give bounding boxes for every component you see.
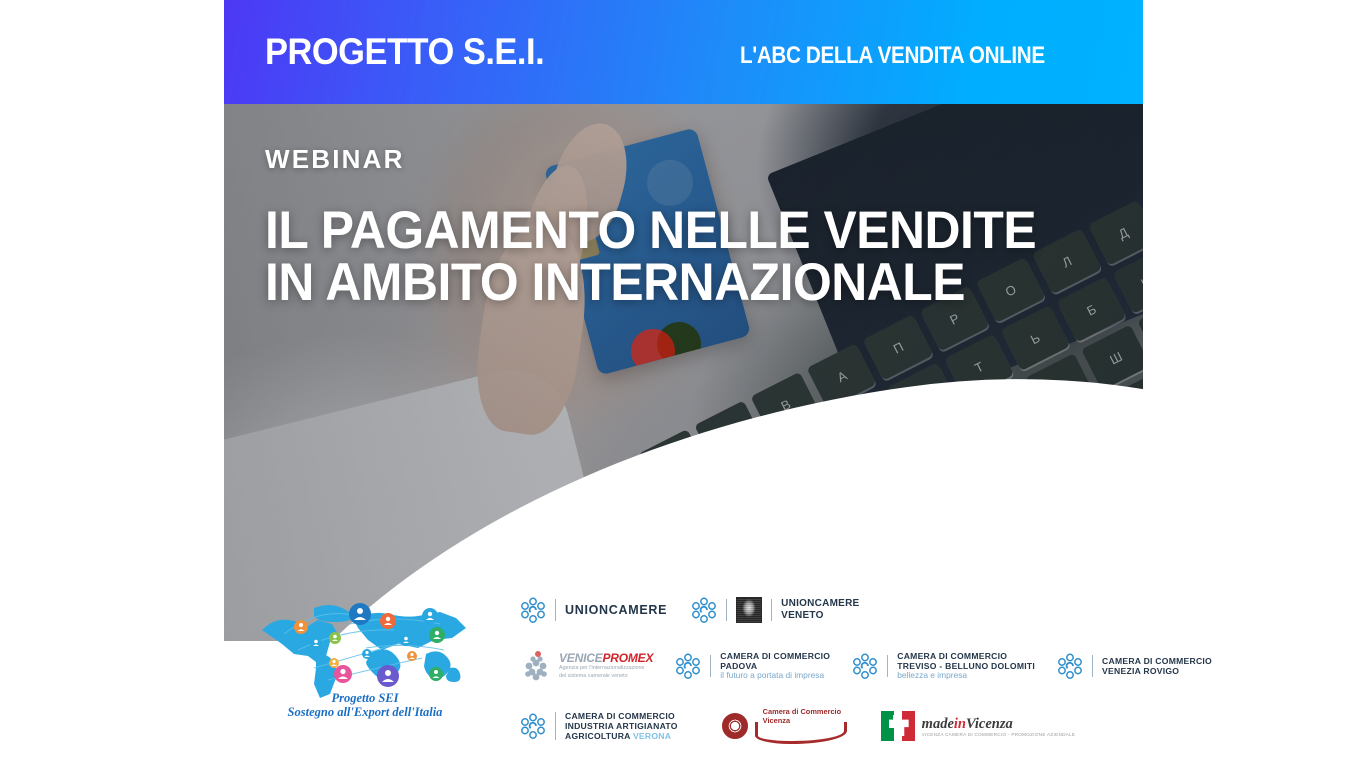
madein-vicenza-sub: VICENZA CAMERA DI COMMERCIO - PROMOZIONE… bbox=[922, 732, 1076, 737]
sei-caption-line-2: Sostegno all'Export dell'Italia bbox=[254, 705, 476, 720]
vicenza-seal-icon bbox=[722, 713, 748, 739]
sei-caption-line-1: Progetto SEI bbox=[254, 691, 476, 706]
hero-title-line-2: IN AMBITO INTERNAZIONALE bbox=[265, 257, 1036, 309]
partner-logos: UNIONCAMERE bbox=[520, 590, 1140, 748]
hero-kicker: WEBINAR bbox=[265, 144, 1085, 175]
unioncamere-swirl-icon bbox=[852, 653, 878, 679]
logo-divider bbox=[710, 655, 711, 677]
logo-venice-promex: VENICEPROMEX Agenzia per l'internazional… bbox=[520, 650, 653, 682]
made-word: made bbox=[922, 716, 954, 732]
logo-divider bbox=[771, 599, 772, 621]
verona-line-1: CAMERA DI COMMERCIO bbox=[565, 711, 678, 721]
progetto-sei-caption: Progetto SEI Sostegno all'Export dell'It… bbox=[254, 691, 476, 721]
verona-line-3: AGRICOLTURA VERONA bbox=[565, 731, 678, 741]
promex-word: PROMEX bbox=[602, 651, 653, 665]
partner-logo-row-1: UNIONCAMERE bbox=[520, 590, 1140, 630]
italian-flag-puzzle-icon bbox=[881, 711, 915, 741]
puzzle-piece-icon bbox=[889, 715, 909, 736]
hero-banner: ФЫВАПРОЛД ЯЧСМИТЬБЮ ЙЦУКЕНГШЩ ЗХЪЖЭЁВNM … bbox=[224, 104, 1143, 641]
venice-promex-sphere-icon bbox=[520, 650, 554, 682]
logo-unioncamere: UNIONCAMERE bbox=[520, 597, 667, 623]
progetto-sei-logo: Progetto SEI Sostegno all'Export dell'It… bbox=[254, 594, 476, 722]
unioncamere-swirl-icon bbox=[691, 597, 717, 623]
treviso-wordmark: CAMERA DI COMMERCIO TREVISO - BELLUNO DO… bbox=[897, 651, 1035, 681]
uc-veneto-line-2: VENETO bbox=[781, 610, 859, 622]
logo-camera-commercio-treviso: CAMERA DI COMMERCIO TREVISO - BELLUNO DO… bbox=[852, 651, 1035, 681]
unioncamere-swirl-icon bbox=[675, 653, 701, 679]
poster-header: PROGETTO S.E.I. L'ABC DELLA VENDITA ONLI… bbox=[224, 0, 1143, 104]
unioncamere-swirl-icon bbox=[520, 597, 546, 623]
gondola-swoosh-icon bbox=[755, 722, 847, 744]
verona-line-3-prefix: AGRICOLTURA bbox=[565, 731, 633, 741]
unioncamere-veneto-wordmark: UNIONCAMERE VENETO bbox=[781, 598, 859, 622]
vicenza-word: Vicenza bbox=[966, 716, 1013, 732]
poster-content: PROGETTO S.E.I. L'ABC DELLA VENDITA ONLI… bbox=[224, 0, 1143, 768]
venice-word: VENICE bbox=[559, 651, 602, 665]
verona-city-name: VERONA bbox=[633, 731, 671, 741]
poster-page: PROGETTO S.E.I. L'ABC DELLA VENDITA ONLI… bbox=[0, 0, 1366, 768]
logo-madein-vicenza: madeinVicenza VICENZA CAMERA DI COMMERCI… bbox=[881, 711, 1076, 741]
logo-divider bbox=[887, 655, 888, 677]
treviso-line-1: CAMERA DI COMMERCIO bbox=[897, 651, 1035, 661]
uc-veneto-line-1: UNIONCAMERE bbox=[781, 598, 859, 610]
lion-of-saint-mark-icon bbox=[736, 597, 762, 623]
logo-divider bbox=[1092, 655, 1093, 677]
logo-divider bbox=[555, 599, 556, 621]
partner-logo-row-3: CAMERA DI COMMERCIO INDUSTRIA ARTIGIANAT… bbox=[520, 704, 1140, 748]
logo-camera-commercio-vicenza: Camera di Commercio Vicenza bbox=[722, 707, 847, 745]
world-map-icon bbox=[254, 594, 476, 704]
brand-title: PROGETTO S.E.I. bbox=[265, 33, 544, 70]
logo-camera-commercio-padova: CAMERA DI COMMERCIO PADOVA il futuro a p… bbox=[675, 651, 830, 681]
logo-divider bbox=[726, 599, 727, 621]
hero-title: IL PAGAMENTO NELLE VENDITE IN AMBITO INT… bbox=[265, 205, 1036, 309]
in-word: in bbox=[954, 716, 966, 732]
venice-promex-sub-1: Agenzia per l'internazionalizzazione bbox=[559, 665, 653, 672]
partner-logo-row-2: VENICEPROMEX Agenzia per l'internazional… bbox=[520, 642, 1140, 690]
venezia-rovigo-line-1: CAMERA DI COMMERCIO bbox=[1102, 656, 1212, 666]
poster-footer: Progetto SEI Sostegno all'Export dell'It… bbox=[224, 580, 1143, 768]
padova-wordmark: CAMERA DI COMMERCIO PADOVA il futuro a p… bbox=[720, 651, 830, 681]
unioncamere-swirl-icon bbox=[520, 713, 546, 739]
hero-text-block: WEBINAR IL PAGAMENTO NELLE VENDITE IN AM… bbox=[265, 144, 1085, 309]
madein-vicenza-word: madeinVicenza bbox=[922, 716, 1013, 732]
unioncamere-wordmark: UNIONCAMERE bbox=[565, 603, 667, 617]
padova-slogan: il futuro a portata di impresa bbox=[720, 671, 830, 681]
logo-camera-commercio-verona: CAMERA DI COMMERCIO INDUSTRIA ARTIGIANAT… bbox=[520, 711, 678, 741]
venezia-rovigo-line-2: VENEZIA ROVIGO bbox=[1102, 666, 1212, 676]
verona-wordmark: CAMERA DI COMMERCIO INDUSTRIA ARTIGIANAT… bbox=[565, 711, 678, 741]
logo-divider bbox=[555, 712, 556, 740]
logo-unioncamere-veneto: UNIONCAMERE VENETO bbox=[691, 597, 859, 623]
hero-title-line-1: IL PAGAMENTO NELLE VENDITE bbox=[265, 205, 1036, 257]
venice-promex-wordmark: VENICEPROMEX Agenzia per l'internazional… bbox=[559, 652, 653, 680]
vicenza-mark: Camera di Commercio Vicenza bbox=[755, 707, 847, 745]
venice-promex-word: VENICEPROMEX bbox=[559, 652, 653, 665]
padova-line-1: CAMERA DI COMMERCIO bbox=[720, 651, 830, 661]
logo-camera-commercio-venezia-rovigo: CAMERA DI COMMERCIO VENEZIA ROVIGO bbox=[1057, 653, 1212, 679]
unioncamere-swirl-icon bbox=[1057, 653, 1083, 679]
brand-tagline: L'ABC DELLA VENDITA ONLINE bbox=[740, 44, 1045, 68]
venice-promex-sub-2: del sistema camerale veneto bbox=[559, 673, 653, 680]
treviso-slogan: bellezza e impresa bbox=[897, 671, 1035, 681]
verona-line-2: INDUSTRIA ARTIGIANATO bbox=[565, 721, 678, 731]
madein-vicenza-wordmark: madeinVicenza VICENZA CAMERA DI COMMERCI… bbox=[922, 715, 1076, 738]
venezia-rovigo-wordmark: CAMERA DI COMMERCIO VENEZIA ROVIGO bbox=[1102, 656, 1212, 676]
